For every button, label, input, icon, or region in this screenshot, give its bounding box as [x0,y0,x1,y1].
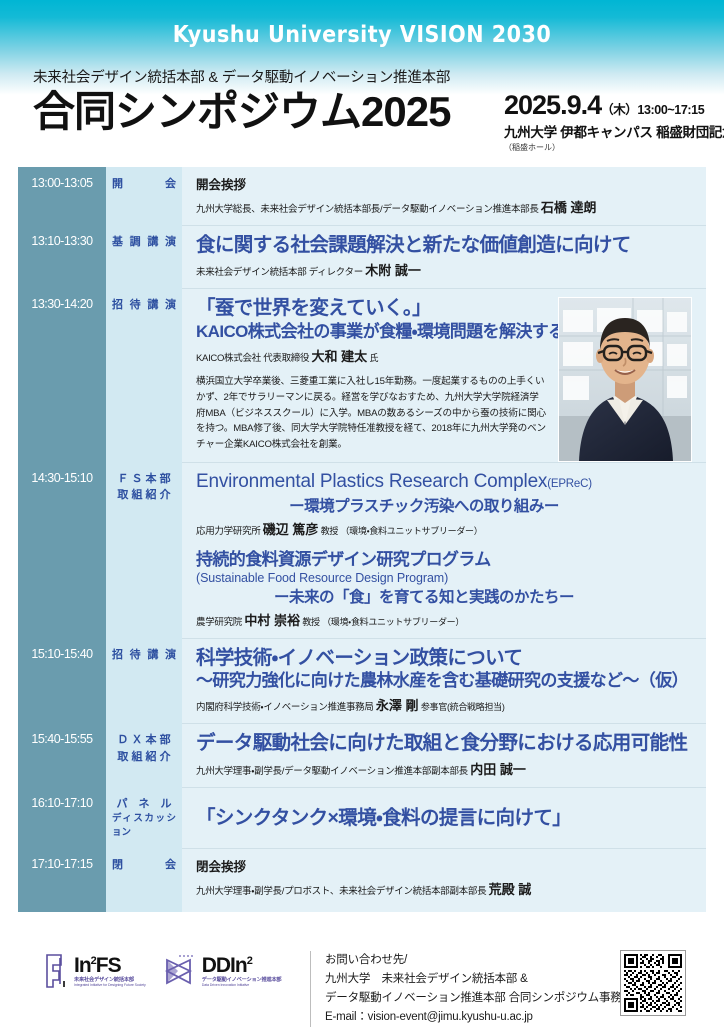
cat-char: 招 [112,647,123,664]
row-content: 科学技術・イノベーション政策について 〜研究力強化に向けた農林水産を含む基礎研究… [182,638,706,723]
row-title-secondary: 〜研究力強化に向けた農林水産を含む基礎研究の支援など〜（仮） [196,670,692,692]
speaker-bio: 横浜国立大学卒業後、三菱重工業に入社し15年勤務。一度起業するものの上手くいかず… [196,374,546,453]
row-subtitle: ー環境プラスチック汚染への取り組みー [196,494,692,516]
ddin-mark-icon [164,954,196,988]
row-speaker: 応用力学研究所 磯辺 篤彦 教授 （環境・食料ユニットサブリーダー） [196,519,692,538]
event-time: （木）13:00~17:15 [601,103,704,117]
speaker-name: 荒殿 誠 [489,882,532,897]
program-row: 14:30-15:10 Ｆ Ｓ 本 部 取 組 紹 介 Environmenta… [18,462,706,638]
infs-en-label: Integrated Initiative for Designing Futu… [74,984,146,988]
row-title-english: Environmental Plastics Research Complex(… [196,470,692,494]
row-content: Environmental Plastics Research Complex(… [182,462,706,638]
infs-wordmark: In2FS [74,955,146,976]
speaker-name: 石橋 達朗 [541,200,597,215]
cat-char: 講 [147,234,158,251]
ddin-en-label: Data Driven Innovation Initiative [202,984,282,988]
row-time: 17:10-17:15 [18,848,106,912]
speaker-title: 教授 [302,617,319,627]
subblock-title: 持続的食料資源デザイン研究プログラム [196,549,692,571]
poster-main-title: 合同シンポジウム2025 [33,88,450,135]
contact-org2: データ駆動イノベーション推進本部 合同シンポジウム事務局 [325,989,633,1008]
speaker-role: 農学研究院 [196,617,242,628]
infs-text: In2FS 未来社会デザイン統括本部 Integrated Initiative… [74,955,146,988]
row-category: 基 調 講 演 [106,225,182,288]
row-content: 「蚕で世界を変えていく。」 KAICO株式会社の事業が食糧・環境問題を解決する … [182,288,706,462]
date-venue-block: 2025.9.4（木）13:00~17:15 九州大学 伊都キャンパス 稲盛財団… [504,92,724,153]
speaker-name: 永澤 剛 [376,698,419,713]
row-time: 13:30-14:20 [18,288,106,462]
row-content: 閉会挨拶 九州大学理事・副学長/プロボスト、未来社会デザイン統括本部副本部長 荒… [182,848,706,912]
speaker-role: 九州大学理事・副学長/プロボスト、未来社会デザイン統括本部副本部長 [196,886,486,897]
cat-line: 取 組 紹 介 [112,487,176,504]
vision-title: Kyushu University VISION 2030 [0,22,724,48]
row-subblock: 持続的食料資源デザイン研究プログラム (Sustainable Food Res… [196,549,692,629]
ddin-wordmark: DDIn2 [202,955,282,976]
cat-char: 調 [130,234,141,251]
program-row: 13:00-13:05 開会 開会挨拶 九州大学総長、未来社会デザイン統括本部長… [18,167,706,225]
cat-char: 講 [147,647,158,664]
portrait-image [559,298,691,461]
contact-block: お問い合わせ先/ 九州大学 未来社会デザイン統括本部 & データ駆動イノベーショ… [310,951,633,1027]
poster-subtitle: 未来社会デザイン統括本部 & データ駆動イノベーション推進本部 [33,66,450,87]
speaker-title: 教授 [321,526,338,536]
row-time: 13:10-13:30 [18,225,106,288]
ddin-text: DDIn2 データ駆動イノベーション推進本部 Data Driven Innov… [202,955,282,988]
cat-char: 演 [165,647,176,664]
infs-mark-icon [46,954,68,988]
qr-code-icon [624,954,682,1012]
cat-line: パ ネ ル [112,796,176,813]
program-table: 13:00-13:05 開会 開会挨拶 九州大学総長、未来社会デザイン統括本部長… [18,167,706,912]
row-category: Ｄ Ｘ 本 部 取 組 紹 介 [106,723,182,786]
cat-line: 取 組 紹 介 [112,749,176,766]
speaker-name: 磯辺 篤彦 [263,522,319,537]
program-row: 17:10-17:15 閉会 閉会挨拶 九州大学理事・副学長/プロボスト、未来社… [18,848,706,912]
program-row: 13:30-14:20 招 待 講 演 「蚕で世界を変えていく。」 KAICO株… [18,288,706,462]
row-time: 13:00-13:05 [18,167,106,225]
speaker-name: 中村 崇裕 [244,613,300,628]
ddin-ddin: DDIn [202,954,247,977]
subblock-english: (Sustainable Food Resource Design Progra… [196,571,692,585]
row-speaker: 九州大学理事・副学長/プロボスト、未来社会デザイン統括本部副本部長 荒殿 誠 [196,879,692,898]
program-row: 13:10-13:30 基 調 講 演 食に関する社会課題解決と新たな価値創造に… [18,225,706,288]
row-time: 15:10-15:40 [18,638,106,723]
row-content: 「シンクタンク×環境・食料の提言に向けて」 [182,787,706,848]
speaker-role: 九州大学理事・副学長/データ駆動イノベーション推進本部副本部長 [196,766,468,777]
speaker-title: 参事官(統合戦略担当) [421,702,505,712]
row-speaker: 九州大学総長、未来社会デザイン統括本部長/データ駆動イノベーション推進本部長 石… [196,197,692,216]
program-row: 15:10-15:40 招 待 講 演 科学技術・イノベーション政策について 〜… [18,638,706,723]
ddin-sup: 2 [247,955,252,967]
row-category: Ｆ Ｓ 本 部 取 組 紹 介 [106,462,182,638]
event-venue-sub: （稲盛ホール） [504,142,724,153]
event-date: 2025.9.4 [504,90,601,120]
cat-char: 会 [165,857,176,874]
logo-ddin: DDIn2 データ駆動イノベーション推進本部 Data Driven Innov… [164,954,282,988]
subblock-speaker: 農学研究院 中村 崇裕 教授 （環境・食料ユニットサブリーダー） [196,610,692,629]
row-category: 開会 [106,167,182,225]
cat-char: 講 [147,297,158,314]
cat-char: 待 [130,297,141,314]
speaker-portrait [558,297,692,462]
logo-infs: In2FS 未来社会デザイン統括本部 Integrated Initiative… [46,954,146,988]
logo-group: In2FS 未来社会デザイン統括本部 Integrated Initiative… [46,954,281,988]
row-category: パ ネ ル ディスカッション [106,787,182,848]
row-title: 科学技術・イノベーション政策について [196,646,692,670]
row-title: 「シンクタンク×環境・食料の提言に向けて」 [196,806,692,830]
speaker-note: （環境・食料ユニットサブリーダー） [340,526,482,536]
row-speaker: 未来社会デザイン統括本部 ディレクター 木附 誠一 [196,260,692,279]
speaker-name: 木附 誠一 [365,263,421,278]
contact-org1: 九州大学 未来社会デザイン統括本部 & [325,970,633,989]
title-block: 未来社会デザイン統括本部 & データ駆動イノベーション推進本部 合同シンポジウム… [33,66,450,135]
cat-char: 演 [165,234,176,251]
program-row: 15:40-15:55 Ｄ Ｘ 本 部 取 組 紹 介 データ駆動社会に向けた取… [18,723,706,786]
row-category: 招 待 講 演 [106,638,182,723]
row-category: 招 待 講 演 [106,288,182,462]
speaker-name: 大和 建太 [312,349,368,364]
program-row: 16:10-17:10 パ ネ ル ディスカッション 「シンクタンク×環境・食料… [18,787,706,848]
row-content: データ駆動社会に向けた取組と食分野における応用可能性 九州大学理事・副学長/デー… [182,723,706,786]
speaker-role: 未来社会デザイン統括本部 ディレクター [196,267,363,278]
cat-char: 待 [130,647,141,664]
cat-char: 開 [112,176,123,193]
cat-line: Ｄ Ｘ 本 部 [112,732,176,749]
speaker-role: 応用力学研究所 [196,526,260,537]
cat-char: 会 [165,176,176,193]
poster-root: Kyushu University VISION 2030 未来社会デザイン統括… [0,0,724,1024]
cat-line: ディスカッション [112,812,176,841]
row-time: 16:10-17:10 [18,787,106,848]
row-content: 食に関する社会課題解決と新たな価値創造に向けて 未来社会デザイン統括本部 ディレ… [182,225,706,288]
row-time: 15:40-15:55 [18,723,106,786]
cat-line: Ｆ Ｓ 本 部 [112,471,176,488]
row-heading: 開会挨拶 [196,174,692,193]
footer: In2FS 未来社会デザイン統括本部 Integrated Initiative… [0,940,724,1024]
eng-title-abbrev: (EPReC) [547,478,592,490]
row-heading: 閉会挨拶 [196,856,692,875]
infs-in: In [74,954,91,977]
event-venue: 九州大学 伊都キャンパス 稲盛財団記念館 [504,121,724,141]
row-title: データ駆動社会に向けた取組と食分野における応用可能性 [196,731,692,755]
row-title: 食に関する社会課題解決と新たな価値創造に向けて [196,233,692,257]
speaker-note: （環境・食料ユニットサブリーダー） [322,617,464,627]
contact-heading: お問い合わせ先/ [325,951,633,970]
cat-char: 演 [165,297,176,314]
row-speaker: 九州大学理事・副学長/データ駆動イノベーション推進本部副本部長 内田 誠一 [196,759,692,778]
infs-fs: FS [96,954,121,977]
contact-email[interactable]: E-mail：vision-event@jimu.kyushu-u.ac.jp [325,1008,633,1027]
qr-code[interactable] [620,950,686,1016]
speaker-role: KAICO株式会社 代表取締役 [196,353,309,364]
speaker-role: 九州大学総長、未来社会デザイン統括本部長/データ駆動イノベーション推進本部長 [196,204,539,215]
row-time: 14:30-15:10 [18,462,106,638]
row-category: 閉会 [106,848,182,912]
speaker-name: 内田 誠一 [470,762,526,777]
row-content: 開会挨拶 九州大学総長、未来社会デザイン統括本部長/データ駆動イノベーション推進… [182,167,706,225]
speaker-suffix: 氏 [370,353,379,363]
cat-char: 閉 [112,857,123,874]
eng-title-text: Environmental Plastics Research Complex [196,471,547,492]
row-speaker: 内閣府科学技術・イノベーション推進事務局 永澤 剛 参事官(統合戦略担当) [196,695,692,714]
cat-char: 招 [112,297,123,314]
subblock-subtitle: ー未来の「食」を育てる知と実践のかたちー [196,585,692,607]
speaker-role: 内閣府科学技術・イノベーション推進事務局 [196,702,374,713]
cat-char: 基 [112,234,123,251]
